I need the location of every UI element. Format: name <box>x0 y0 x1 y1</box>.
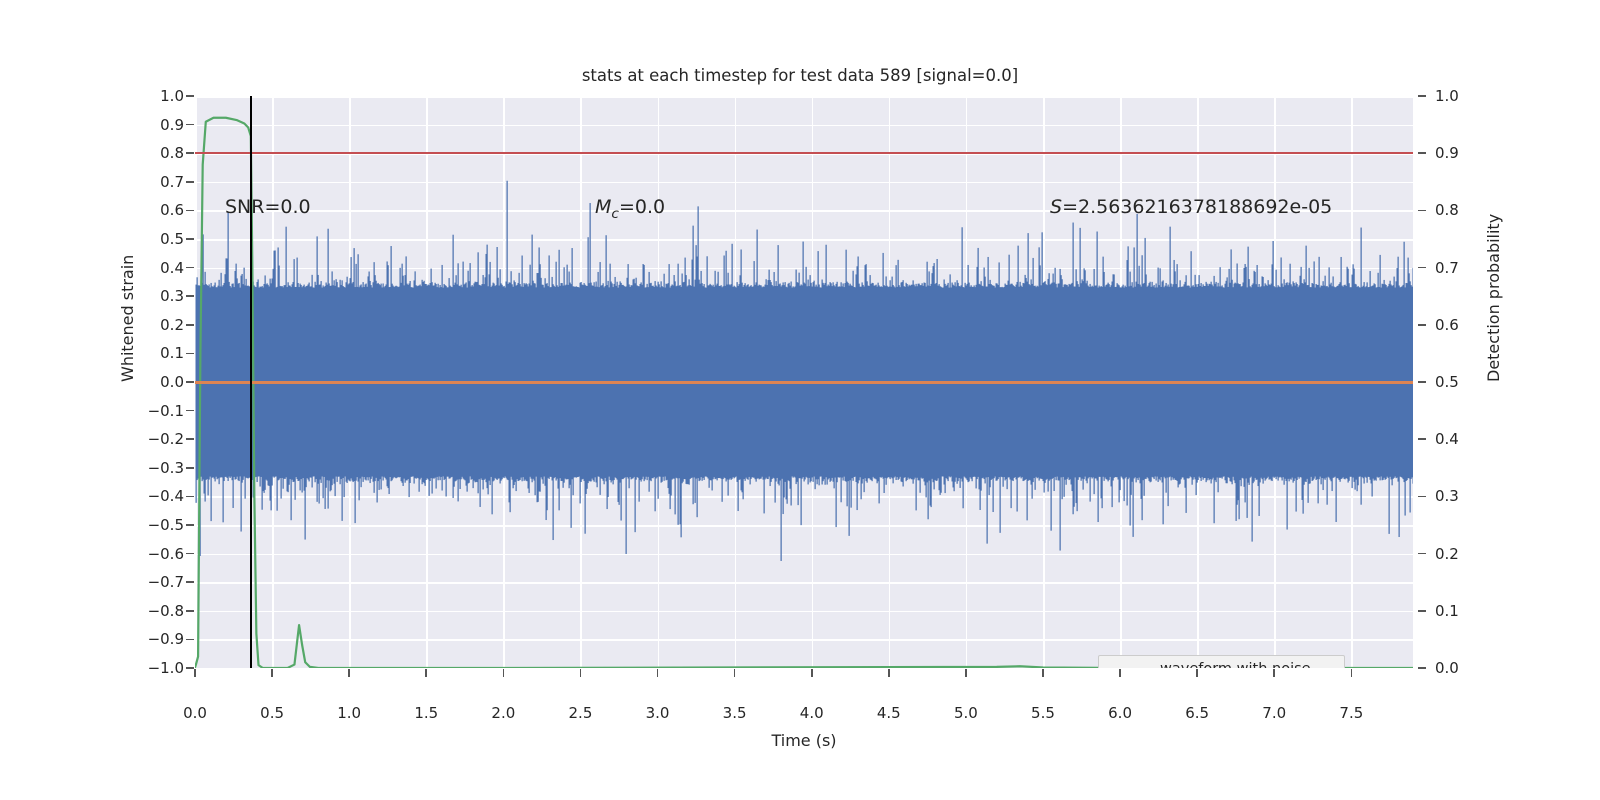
legend: waveform with noisewaveform without nois… <box>1098 655 1345 668</box>
y-tick-mark-left <box>186 324 194 326</box>
x-tick-mark <box>1273 669 1275 677</box>
y-tick-mark-left <box>186 467 194 469</box>
x-tick-label: 2.0 <box>491 704 515 722</box>
y-axis-left-label: Whitened strain <box>118 255 137 382</box>
y-tick-label-left: 0.8 <box>160 144 184 162</box>
x-tick-mark <box>811 669 813 677</box>
y-tick-label-left: 1.0 <box>160 87 184 105</box>
y-tick-mark-left <box>186 353 194 355</box>
y-tick-mark-left <box>186 181 194 183</box>
y-tick-mark-right <box>1418 95 1426 97</box>
legend-label: waveform with noise <box>1160 661 1311 668</box>
y-tick-label-left: −0.7 <box>148 573 184 591</box>
annotation-mc-value: =0.0 <box>619 196 665 218</box>
y-tick-mark-left <box>186 667 194 669</box>
y-tick-label-right: 0.0 <box>1435 659 1459 677</box>
annotation-mc-subscript: c <box>611 206 619 222</box>
y-tick-label-right: 0.5 <box>1435 373 1459 391</box>
y-tick-mark-left <box>186 124 194 126</box>
y-tick-label-left: −0.5 <box>148 516 184 534</box>
x-tick-mark <box>965 669 967 677</box>
y-tick-mark-left <box>186 438 194 440</box>
y-tick-mark-right <box>1418 152 1426 154</box>
y-tick-label-left: 0.2 <box>160 316 184 334</box>
y-tick-mark-right <box>1418 267 1426 269</box>
x-tick-mark <box>1196 669 1198 677</box>
y-tick-label-right: 1.0 <box>1435 87 1459 105</box>
x-tick-label: 6.5 <box>1185 704 1209 722</box>
y-tick-label-left: 0.5 <box>160 230 184 248</box>
x-tick-label: 0.0 <box>183 704 207 722</box>
annotation-snr: SNR=0.0 <box>225 196 311 218</box>
y-axis-right-label: Detection probability <box>1484 214 1503 382</box>
y-tick-label-left: −1.0 <box>148 659 184 677</box>
y-tick-mark-left <box>186 581 194 583</box>
x-tick-mark <box>1351 669 1353 677</box>
series-waveform-without-noise <box>195 381 1413 384</box>
y-tick-mark-left <box>186 610 194 612</box>
chart-title: stats at each timestep for test data 589… <box>0 66 1600 85</box>
y-tick-mark-right <box>1418 210 1426 212</box>
y-tick-label-right: 0.8 <box>1435 201 1459 219</box>
annotation-s-symbol: S <box>1050 196 1062 218</box>
x-tick-mark <box>888 669 890 677</box>
series-waveform-with-noise <box>196 181 1414 561</box>
x-tick-label: 4.5 <box>877 704 901 722</box>
y-tick-label-left: −0.6 <box>148 545 184 563</box>
y-tick-mark-left <box>186 553 194 555</box>
y-tick-label-right: 0.4 <box>1435 430 1459 448</box>
y-tick-label-left: −0.3 <box>148 459 184 477</box>
y-tick-label-left: 0.4 <box>160 259 184 277</box>
x-tick-label: 7.0 <box>1262 704 1286 722</box>
x-tick-label: 2.5 <box>569 704 593 722</box>
y-tick-mark-left <box>186 496 194 498</box>
x-tick-label: 3.0 <box>646 704 670 722</box>
x-tick-label: 6.0 <box>1108 704 1132 722</box>
y-tick-mark-right <box>1418 381 1426 383</box>
annotation-statistic: S=2.5636216378188692e-05 <box>1050 196 1332 218</box>
annotation-chirp-mass: Mc=0.0 <box>595 196 665 222</box>
y-tick-mark-left <box>186 639 194 641</box>
y-tick-label-left: −0.2 <box>148 430 184 448</box>
y-tick-label-left: 0.0 <box>160 373 184 391</box>
x-tick-mark <box>348 669 350 677</box>
x-tick-label: 5.5 <box>1031 704 1055 722</box>
y-tick-label-left: −0.4 <box>148 487 184 505</box>
vertical-time-marker <box>250 96 252 668</box>
annotation-s-value: =2.5636216378188692e-05 <box>1062 196 1332 218</box>
y-tick-mark-left <box>186 295 194 297</box>
y-tick-label-left: 0.1 <box>160 344 184 362</box>
y-tick-mark-right <box>1418 438 1426 440</box>
x-tick-mark <box>657 669 659 677</box>
x-tick-label: 5.0 <box>954 704 978 722</box>
x-tick-mark <box>1119 669 1121 677</box>
y-tick-mark-left <box>186 410 194 412</box>
x-tick-mark <box>194 669 196 677</box>
plot-area: SNR=0.0 Mc=0.0 S=2.5636216378188692e-05 … <box>195 96 1413 668</box>
y-tick-label-left: 0.3 <box>160 287 184 305</box>
detection-threshold-line <box>195 152 1413 154</box>
figure: stats at each timestep for test data 589… <box>0 0 1600 800</box>
y-tick-label-right: 0.7 <box>1435 259 1459 277</box>
annotation-mc-symbol: M <box>595 196 611 218</box>
y-tick-mark-right <box>1418 324 1426 326</box>
y-tick-mark-left <box>186 152 194 154</box>
y-tick-mark-right <box>1418 667 1426 669</box>
y-tick-label-left: −0.1 <box>148 402 184 420</box>
y-tick-label-left: 0.7 <box>160 173 184 191</box>
y-tick-label-left: −0.8 <box>148 602 184 620</box>
y-tick-mark-left <box>186 267 194 269</box>
legend-item[interactable]: waveform with noise <box>1107 661 1334 668</box>
y-tick-mark-right <box>1418 610 1426 612</box>
x-tick-mark <box>580 669 582 677</box>
y-tick-label-right: 0.6 <box>1435 316 1459 334</box>
y-tick-label-right: 0.9 <box>1435 144 1459 162</box>
y-tick-label-right: 0.1 <box>1435 602 1459 620</box>
y-tick-label-right: 0.2 <box>1435 545 1459 563</box>
y-tick-mark-right <box>1418 553 1426 555</box>
x-tick-mark <box>425 669 427 677</box>
x-tick-mark <box>734 669 736 677</box>
x-tick-mark <box>271 669 273 677</box>
x-tick-label: 0.5 <box>260 704 284 722</box>
x-tick-mark <box>503 669 505 677</box>
y-tick-mark-left <box>186 238 194 240</box>
x-tick-label: 1.0 <box>337 704 361 722</box>
y-tick-label-right: 0.3 <box>1435 487 1459 505</box>
y-tick-label-left: 0.9 <box>160 116 184 134</box>
y-tick-mark-right <box>1418 496 1426 498</box>
y-tick-label-left: −0.9 <box>148 630 184 648</box>
y-tick-mark-left <box>186 381 194 383</box>
y-tick-label-left: 0.6 <box>160 201 184 219</box>
x-tick-label: 3.5 <box>723 704 747 722</box>
x-axis-label: Time (s) <box>195 731 1413 750</box>
y-tick-mark-left <box>186 524 194 526</box>
x-tick-label: 7.5 <box>1339 704 1363 722</box>
x-tick-label: 1.5 <box>414 704 438 722</box>
x-tick-label: 4.0 <box>800 704 824 722</box>
x-tick-mark <box>1042 669 1044 677</box>
y-tick-mark-left <box>186 95 194 97</box>
y-tick-mark-left <box>186 210 194 212</box>
